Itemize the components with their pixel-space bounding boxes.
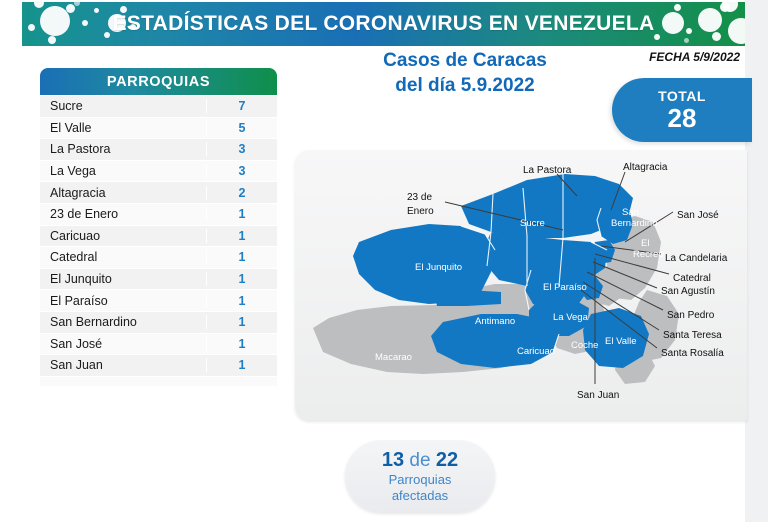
affected-count-line: 13 de 22 [382,449,458,472]
total-value: 28 [668,104,697,132]
map-region-label: Sucre [520,218,545,229]
page-title-line2: del día 5.9.2022 [300,73,630,98]
table-row: San Juan1 [40,355,277,377]
table-row: Caricuao1 [40,226,277,248]
map-region-label: Bernardino [611,218,657,229]
map-region-label: Recreo [633,249,664,260]
table-cell-parish: El Paraíso [40,294,206,308]
table-cell-cases: 1 [206,207,277,221]
table-cell-cases: 1 [206,229,277,243]
map-panel: SucreEl JunquitoEl ParaísoLa VegaCaricua… [295,150,747,420]
page-title: Casos de Caracas del día 5.9.2022 [300,48,630,98]
map-callout-label: Catedral [673,273,711,284]
affected-total: 22 [436,449,458,471]
map-callout-label: Santa Teresa [663,330,722,341]
table-body: Sucre7El Valle5La Pastora3La Vega3Altagr… [40,95,277,377]
table-row: La Pastora3 [40,139,277,161]
table-row: 23 de Enero1 [40,204,277,226]
table-cell-cases: 1 [206,358,277,372]
table-row: Sucre7 [40,96,277,118]
map-callout-label: Santa Rosalía [661,348,724,359]
map-callout-label: Enero [407,206,434,217]
map-callout-label: San Agustín [661,286,715,297]
table-cell-cases: 1 [206,294,277,308]
total-badge: TOTAL 28 [612,78,752,142]
table-cell-cases: 1 [206,272,277,286]
map-region-label: San [622,207,639,218]
table-footer-strip [40,377,277,386]
affected-parishes-badge: 13 de 22 Parroquias afectadas [345,440,495,512]
table-cell-parish: Sucre [40,99,206,113]
table-cell-parish: La Vega [40,164,206,178]
table-row: El Paraíso1 [40,290,277,312]
table-header: PARROQUIAS [40,68,277,95]
table-row: San José1 [40,334,277,356]
total-label: TOTAL [658,88,706,104]
table-cell-parish: La Pastora [40,142,206,156]
table-header-label: PARROQUIAS [107,74,210,90]
map-callout-label: Altagracia [623,162,667,173]
left-margin [0,0,22,522]
map-callout-label: San Pedro [667,310,714,321]
map-region-label: Macarao [375,352,412,363]
affected-caption-line2: afectadas [392,488,448,504]
table-cell-cases: 1 [206,315,277,329]
table-row: Altagracia2 [40,182,277,204]
map-callout-label: San Juan [577,390,619,401]
map-region-label: El [641,238,649,249]
map-region-label: El Valle [605,336,637,347]
map-region-label: Caricuao [517,346,555,357]
table-row: El Valle5 [40,118,277,140]
table-cell-parish: San Juan [40,358,206,372]
table-cell-parish: San José [40,337,206,351]
table-row: Catedral1 [40,247,277,269]
table-row: El Junquito1 [40,269,277,291]
table-row: La Vega3 [40,161,277,183]
table-cell-cases: 7 [206,99,277,113]
table-cell-parish: Caricuao [40,229,206,243]
table-cell-parish: El Junquito [40,272,206,286]
date-label: FECHA 5/9/2022 [649,50,740,64]
table-cell-parish: San Bernardino [40,315,206,329]
table-cell-cases: 3 [206,164,277,178]
table-cell-cases: 5 [206,121,277,135]
map-callout-label: San José [677,210,719,221]
map-region-label: Coche [571,340,598,351]
parroquias-table: PARROQUIAS Sucre7El Valle5La Pastora3La … [40,68,277,386]
map-callout-label: 23 de [407,192,432,203]
map-callout-label: La Pastora [523,165,571,176]
table-cell-cases: 2 [206,186,277,200]
table-cell-parish: 23 de Enero [40,207,206,221]
page-title-line1: Casos de Caracas [300,48,630,73]
table-row: San Bernardino1 [40,312,277,334]
map-region-label: El Paraíso [543,282,587,293]
header-banner: ESTADÍSTICAS DEL CORONAVIRUS EN VENEZUEL… [22,2,745,46]
table-cell-cases: 3 [206,142,277,156]
affected-count: 13 [382,449,404,471]
infographic-root: ESTADÍSTICAS DEL CORONAVIRUS EN VENEZUEL… [0,0,768,522]
affected-connector: de [404,450,436,471]
map-callout-label: La Candelaria [665,253,727,264]
map-region-label: El Junquito [415,262,462,273]
table-cell-parish: El Valle [40,121,206,135]
header-title: ESTADÍSTICAS DEL CORONAVIRUS EN VENEZUEL… [22,2,745,46]
table-cell-parish: Altagracia [40,186,206,200]
map-region-label: Antimano [475,316,515,327]
affected-caption-line1: Parroquias [389,472,452,488]
map-region-label: La Vega [553,312,588,323]
caracas-parish-map [295,150,747,420]
table-cell-parish: Catedral [40,250,206,264]
table-cell-cases: 1 [206,337,277,351]
table-cell-cases: 1 [206,250,277,264]
